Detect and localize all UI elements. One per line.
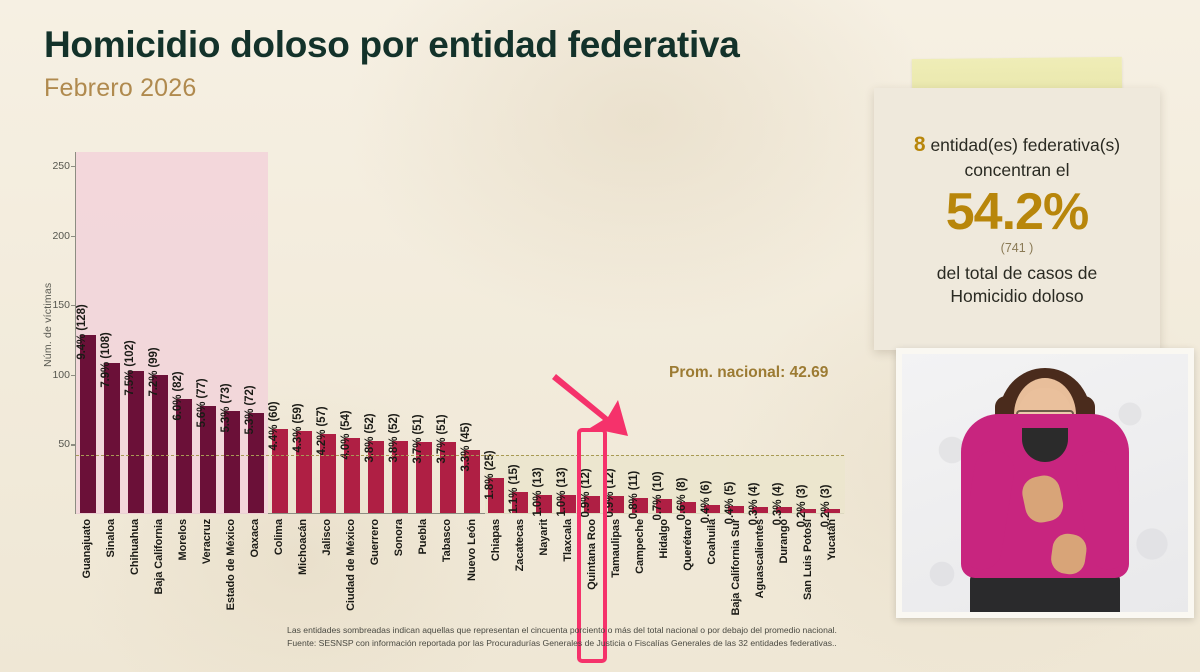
footnote-line-2: Fuente: SESNSP con información reportada… — [262, 637, 862, 650]
y-axis-tick: 150 — [52, 299, 70, 311]
x-axis-label-cell: Campeche — [628, 516, 652, 622]
card-line-3a: del total de casos de — [937, 262, 1098, 285]
national-average-line — [76, 455, 844, 456]
bar[interactable]: 7.5% (102) — [128, 371, 144, 513]
x-axis-label: Baja California Sur — [730, 519, 742, 616]
x-axis-label: Guerrero — [369, 519, 381, 565]
bar[interactable]: 3.8% (52) — [368, 441, 384, 513]
x-axis-label: Nuevo León — [466, 519, 478, 581]
bar-cell[interactable]: 1.8% (25) — [484, 151, 508, 513]
x-axis-label-cell: Nuevo León — [460, 516, 484, 622]
x-axis-label-cell: Yucatán — [820, 516, 844, 622]
x-axis-label: Jalisco — [321, 519, 333, 556]
bar-cell[interactable]: 4.4% (60) — [268, 151, 292, 513]
bar-cell[interactable]: 5.6% (77) — [196, 151, 220, 513]
x-axis-label: Coahuila — [706, 519, 718, 565]
x-axis-label-cell: Zacatecas — [508, 516, 532, 622]
x-axis-label: Tamaulipas — [610, 519, 622, 578]
x-axis-label: Nayarit — [538, 519, 550, 556]
bar[interactable]: 1.0% (13) — [560, 495, 576, 513]
card-entity-text: entidad(es) federativa(s) — [930, 135, 1120, 155]
bar[interactable]: 3.7% (51) — [440, 442, 456, 513]
y-axis-ticks: 50100150200250 — [44, 152, 75, 514]
bar[interactable]: 7.2% (99) — [152, 375, 168, 513]
bar[interactable]: 7.9% (108) — [104, 363, 120, 513]
bar[interactable]: 3.3% (45) — [464, 450, 480, 513]
card-entity-count: 8 — [914, 133, 926, 156]
bar[interactable]: 0.9% (12) — [608, 496, 624, 513]
x-axis-label: Baja California — [153, 519, 165, 595]
bar-cell[interactable]: 9.4% (128) — [76, 151, 100, 513]
bar-value-label: 7.5% (102) — [124, 340, 136, 395]
bar[interactable]: 3.7% (51) — [416, 442, 432, 513]
bar-cell[interactable]: 5.3% (72) — [244, 151, 268, 513]
x-axis-label-cell: Morelos — [171, 516, 195, 622]
x-axis-label-cell: Puebla — [411, 516, 435, 622]
bar[interactable]: 0.2% (3) — [824, 509, 840, 513]
bar-value-label: 0.9% (12) — [580, 469, 592, 518]
x-axis-label: Veracruz — [201, 519, 213, 564]
x-axis-label: Colima — [273, 519, 285, 555]
bar[interactable]: 5.3% (73) — [224, 411, 240, 513]
bar[interactable]: 4.4% (60) — [272, 429, 288, 513]
card-line-1: 8 entidad(es) federativa(s) — [914, 131, 1120, 159]
bar[interactable]: 0.4% (6) — [704, 505, 720, 513]
bar-value-label: 3.7% (51) — [412, 415, 424, 464]
x-axis-label-cell: Guanajuato — [75, 516, 99, 622]
bar[interactable]: 1.1% (15) — [512, 492, 528, 513]
x-axis-label: Querétaro — [682, 519, 694, 571]
bar[interactable]: 0.8% (11) — [632, 498, 648, 513]
bar-cell[interactable]: 3.8% (52) — [388, 151, 412, 513]
x-axis-label: Quintana Roo — [586, 519, 598, 590]
x-axis-label: Oaxaca — [249, 519, 261, 558]
bar-cell[interactable]: 1.1% (15) — [508, 151, 532, 513]
bar-value-label: 5.3% (73) — [220, 384, 232, 433]
bar-value-label: 4.0% (54) — [340, 410, 352, 459]
x-axis-label: Morelos — [177, 519, 189, 560]
footnote: Las entidades sombreadas indican aquella… — [262, 624, 862, 650]
bar-value-label: 7.2% (99) — [148, 348, 160, 397]
bar-cell[interactable]: 7.5% (102) — [124, 151, 148, 513]
bar[interactable]: 0.3% (4) — [752, 507, 768, 513]
bar-cell[interactable]: 0.6% (8) — [676, 151, 700, 513]
x-axis-label-cell: Tabasco — [435, 516, 459, 622]
bar[interactable]: 5.3% (72) — [248, 413, 264, 513]
x-axis-label-cell: Baja California — [147, 516, 171, 622]
x-axis-label-cell: Michoacán — [291, 516, 315, 622]
bar-cell[interactable]: 0.7% (10) — [652, 151, 676, 513]
card-case-count: (741 ) — [1001, 241, 1034, 255]
x-axis-label: Guanajuato — [81, 519, 93, 579]
bar-cell[interactable]: 7.2% (99) — [148, 151, 172, 513]
y-axis-tick: 100 — [52, 369, 70, 381]
x-axis-label-cell: Ciudad de México — [339, 516, 363, 622]
plot-area: 9.4% (128)7.9% (108)7.5% (102)7.2% (99)6… — [75, 152, 844, 514]
x-axis-label-cell: Sinaloa — [99, 516, 123, 622]
national-average-label: Prom. nacional: 42.69 — [669, 364, 828, 382]
x-axis-label: Estado de México — [225, 519, 237, 610]
x-axis-label: Tabasco — [441, 519, 453, 562]
card-percentage: 54.2% — [946, 184, 1088, 240]
x-axis-label: San Luis Potosí — [802, 519, 814, 600]
bar[interactable]: 0.9% (12) — [584, 496, 600, 513]
x-axis-label-cell: Querétaro — [676, 516, 700, 622]
bar-value-label: 5.6% (77) — [196, 378, 208, 427]
x-axis-label-cell: Chiapas — [484, 516, 508, 622]
bar-cell[interactable]: 3.7% (51) — [436, 151, 460, 513]
bar[interactable]: 5.6% (77) — [200, 406, 216, 513]
bar-cell[interactable]: 3.3% (45) — [460, 151, 484, 513]
bar-value-label: 0.7% (10) — [652, 472, 664, 521]
page-title: Homicidio doloso por entidad federativa — [44, 26, 740, 65]
x-axis-label: Tlaxcala — [562, 519, 574, 562]
bar-value-label: 5.3% (72) — [244, 385, 256, 434]
bar[interactable]: 0.4% (5) — [728, 506, 744, 513]
summary-card: 8 entidad(es) federativa(s) concentran e… — [874, 88, 1160, 350]
x-axis-label: Michoacán — [297, 519, 309, 575]
bar-value-label: 0.6% (8) — [676, 478, 688, 521]
x-axis-label: Sonora — [393, 519, 405, 556]
x-axis-labels: GuanajuatoSinaloaChihuahuaBaja Californi… — [75, 516, 844, 622]
card-line-2: concentran el — [964, 160, 1069, 181]
bar-value-label: 1.1% (15) — [508, 465, 520, 514]
bar-cell[interactable]: 3.7% (51) — [412, 151, 436, 513]
x-axis-label-cell: Tamaulipas — [604, 516, 628, 622]
x-axis-label: Sinaloa — [105, 519, 117, 557]
bar-cell[interactable]: 0.9% (12) — [604, 151, 628, 513]
x-axis-label-cell: Guerrero — [363, 516, 387, 622]
bar-value-label: 9.4% (128) — [76, 304, 88, 359]
x-axis-label-cell: Tlaxcala — [556, 516, 580, 622]
bar-value-label: 4.3% (59) — [292, 403, 304, 452]
card-line-3: del total de casos de Homicidio doloso — [937, 262, 1098, 308]
bar-cell[interactable]: 1.0% (13) — [556, 151, 580, 513]
bar-cell[interactable]: 5.3% (73) — [220, 151, 244, 513]
bar[interactable]: 0.3% (4) — [776, 507, 792, 513]
bar-cell[interactable]: 6.0% (82) — [172, 151, 196, 513]
bar-cell[interactable]: 1.0% (13) — [532, 151, 556, 513]
x-axis-label-cell: Jalisco — [315, 516, 339, 622]
x-axis-label: Puebla — [417, 519, 429, 554]
bar-value-label: 7.9% (108) — [100, 332, 112, 387]
x-axis-label-cell: Hidalgo — [652, 516, 676, 622]
x-axis-label: Hidalgo — [658, 519, 670, 559]
bar[interactable]: 4.2% (57) — [320, 434, 336, 513]
bar-cell[interactable]: 0.3% (4) — [772, 151, 796, 513]
x-axis-label-cell: Durango — [772, 516, 796, 622]
bar-value-label: 0.9% (12) — [604, 469, 616, 518]
bar[interactable]: 9.4% (128) — [80, 335, 96, 513]
x-axis-label-cell: Coahuila — [700, 516, 724, 622]
bar[interactable]: 1.8% (25) — [488, 478, 504, 513]
x-axis-label: Chihuahua — [129, 519, 141, 575]
bar-cell[interactable]: 3.8% (52) — [364, 151, 388, 513]
bar-cell[interactable]: 0.2% (3) — [820, 151, 844, 513]
card-line-3b: Homicidio doloso — [937, 285, 1098, 308]
bar-value-label: 1.0% (13) — [556, 467, 568, 516]
x-axis-label: Durango — [778, 519, 790, 564]
bar-cell[interactable]: 0.9% (12) — [580, 151, 604, 513]
x-axis-label-cell: Chihuahua — [123, 516, 147, 622]
bar-value-label: 4.4% (60) — [268, 402, 280, 451]
x-axis-label: Campeche — [634, 519, 646, 574]
bar-series: 9.4% (128)7.9% (108)7.5% (102)7.2% (99)6… — [76, 151, 844, 513]
x-axis-label: Ciudad de México — [345, 519, 357, 611]
x-axis-label-cell: Sonora — [387, 516, 411, 622]
bar-cell[interactable]: 0.4% (5) — [724, 151, 748, 513]
bar-cell[interactable]: 4.3% (59) — [292, 151, 316, 513]
bar-value-label: 4.2% (57) — [316, 406, 328, 455]
bar-value-label: 3.7% (51) — [436, 415, 448, 464]
interpreter-pants — [970, 572, 1120, 612]
x-axis-label-cell: Colima — [267, 516, 291, 622]
bar-value-label: 0.8% (11) — [628, 471, 640, 519]
x-axis-label-cell: Veracruz — [195, 516, 219, 622]
bar[interactable]: 4.0% (54) — [344, 438, 360, 513]
bar-value-label: 6.0% (82) — [172, 371, 184, 420]
bar-value-label: 1.0% (13) — [532, 467, 544, 516]
bar-value-label: 3.3% (45) — [460, 423, 472, 472]
bar[interactable]: 6.0% (82) — [176, 399, 192, 513]
page-subtitle: Febrero 2026 — [44, 74, 740, 103]
x-axis-label-cell: Estado de México — [219, 516, 243, 622]
bar-cell[interactable]: 4.2% (57) — [316, 151, 340, 513]
bar[interactable]: 3.8% (52) — [392, 441, 408, 513]
x-axis-label: Aguascalientes — [754, 519, 766, 598]
x-axis-label-cell: Oaxaca — [243, 516, 267, 622]
y-axis-tick: 50 — [58, 438, 70, 450]
bar-cell[interactable]: 0.3% (4) — [748, 151, 772, 513]
page-header: Homicidio doloso por entidad federativa … — [44, 26, 740, 103]
bar[interactable]: 0.2% (3) — [800, 509, 816, 513]
x-axis-label: Yucatán — [826, 519, 838, 561]
bar-value-label: 1.8% (25) — [484, 451, 496, 500]
bar[interactable]: 0.6% (8) — [680, 502, 696, 513]
bar[interactable]: 1.0% (13) — [536, 495, 552, 513]
x-axis-label-cell: Quintana Roo — [580, 516, 604, 622]
bar-cell[interactable]: 4.0% (54) — [340, 151, 364, 513]
sign-language-video-panel[interactable] — [896, 348, 1194, 618]
x-axis-label: Chiapas — [490, 519, 502, 561]
y-axis-tick: 250 — [52, 160, 70, 172]
bar-cell[interactable]: 7.9% (108) — [100, 151, 124, 513]
x-axis-label-cell: San Luis Potosí — [796, 516, 820, 622]
bar-cell[interactable]: 0.8% (11) — [628, 151, 652, 513]
y-axis-tick: 200 — [52, 230, 70, 242]
bar-chart: Núm. de víctimas 50100150200250 9.4% (12… — [44, 152, 844, 622]
bar-cell[interactable]: 0.4% (6) — [700, 151, 724, 513]
x-axis-label-cell: Nayarit — [532, 516, 556, 622]
bar-cell[interactable]: 0.2% (3) — [796, 151, 820, 513]
x-axis-label-cell: Baja California Sur — [724, 516, 748, 622]
x-axis-label-cell: Aguascalientes — [748, 516, 772, 622]
x-axis-label: Zacatecas — [514, 519, 526, 571]
footnote-line-1: Las entidades sombreadas indican aquella… — [262, 624, 862, 637]
bar[interactable]: 0.7% (10) — [656, 499, 672, 513]
bar[interactable]: 4.3% (59) — [296, 431, 312, 513]
